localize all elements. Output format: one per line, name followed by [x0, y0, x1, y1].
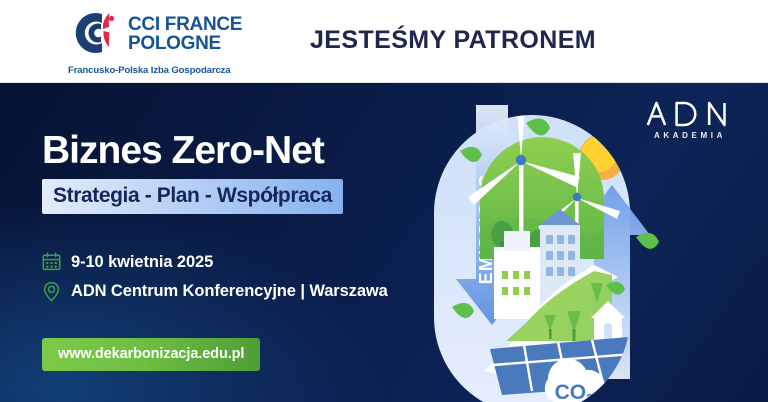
page-title: JESTEŚMY PATRONEM — [310, 26, 596, 55]
hero-section: AKADEMIA Biznes Zero-Net Strategia - Pla… — [0, 83, 768, 402]
hero-copy: Biznes Zero-Net Strategia - Plan - Współ… — [42, 131, 432, 371]
calendar-icon — [42, 252, 61, 273]
website-button[interactable]: www.dekarbonizacja.edu.pl — [42, 338, 260, 371]
event-location-row: ADN Centrum Konferencyjne | Warszawa — [42, 281, 432, 302]
cci-logo-line2: POLOGNE — [128, 34, 242, 53]
event-date: 9-10 kwietnia 2025 — [71, 253, 213, 272]
header-bar: CCI FRANCE POLOGNE Francusko-Polska Izba… — [0, 0, 768, 83]
event-details: 9-10 kwietnia 2025 ADN Centrum Konferenc… — [42, 252, 432, 302]
location-pin-icon — [42, 281, 61, 302]
event-title: Biznes Zero-Net — [42, 131, 432, 170]
event-subtitle-bar: Strategia - Plan - Współpraca — [42, 179, 343, 214]
cci-logo-subtitle: Francusko-Polska Izba Gospodarcza — [68, 65, 263, 76]
cci-logo-line1: CCI FRANCE — [128, 15, 242, 34]
net-zero-emissions-illustration: EMISSIONS — [398, 83, 738, 402]
patron-banner: CCI FRANCE POLOGNE Francusko-Polska Izba… — [0, 0, 768, 402]
cci-logo: CCI FRANCE POLOGNE Francusko-Polska Izba… — [68, 8, 263, 76]
website-url: www.dekarbonizacja.edu.pl — [58, 346, 244, 362]
event-subtitle: Strategia - Plan - Współpraca — [53, 184, 332, 207]
cci-logo-mark — [68, 8, 120, 58]
event-date-row: 9-10 kwietnia 2025 — [42, 252, 432, 273]
event-location: ADN Centrum Konferencyjne | Warszawa — [71, 282, 388, 301]
